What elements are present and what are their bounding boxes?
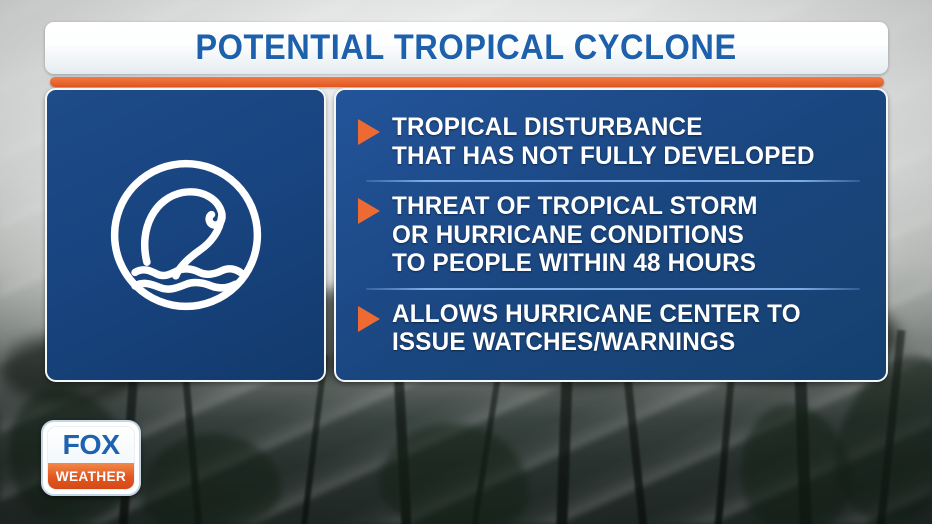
logo-subbrand-block: WEATHER [48,463,134,489]
title-banner: POTENTIAL TROPICAL CYCLONE [45,22,888,87]
list-item-line: TO PEOPLE WITHIN 48 HOURS [392,249,758,278]
list-item-line: THREAT OF TROPICAL STORM [392,192,758,221]
triangle-bullet-icon [358,306,380,332]
page-title: POTENTIAL TROPICAL CYCLONE [196,28,737,68]
triangle-bullet-icon [358,119,380,145]
fox-weather-logo: FOX WEATHER [41,420,141,496]
logo-brand-block: FOX [48,427,134,463]
list-item-line: ALLOWS HURRICANE CENTER TO [392,300,801,329]
ocean-wave-circle-icon [101,150,271,320]
logo-inner: FOX WEATHER [47,426,135,490]
list-item: TROPICAL DISTURBANCE THAT HAS NOT FULLY … [354,107,870,176]
title-bar: POTENTIAL TROPICAL CYCLONE [45,22,888,74]
bullet-list-panel: TROPICAL DISTURBANCE THAT HAS NOT FULLY … [334,88,888,382]
list-item-line: ISSUE WATCHES/WARNINGS [392,328,801,357]
logo-brand-text: FOX [62,429,119,461]
title-accent-bar [50,77,884,87]
triangle-bullet-icon [358,198,380,224]
list-item: ALLOWS HURRICANE CENTER TO ISSUE WATCHES… [354,294,870,363]
list-item: THREAT OF TROPICAL STORM OR HURRICANE CO… [354,186,870,284]
list-divider [366,288,860,290]
list-item-line: TROPICAL DISTURBANCE [392,113,815,142]
weather-graphic: POTENTIAL TROPICAL CYCLONE TROPICAL DIST… [0,0,932,524]
logo-subbrand-text: WEATHER [56,468,126,484]
icon-panel [45,88,326,382]
list-divider [366,180,860,182]
list-item-line: OR HURRICANE CONDITIONS [392,221,758,250]
list-item-line: THAT HAS NOT FULLY DEVELOPED [392,142,815,171]
